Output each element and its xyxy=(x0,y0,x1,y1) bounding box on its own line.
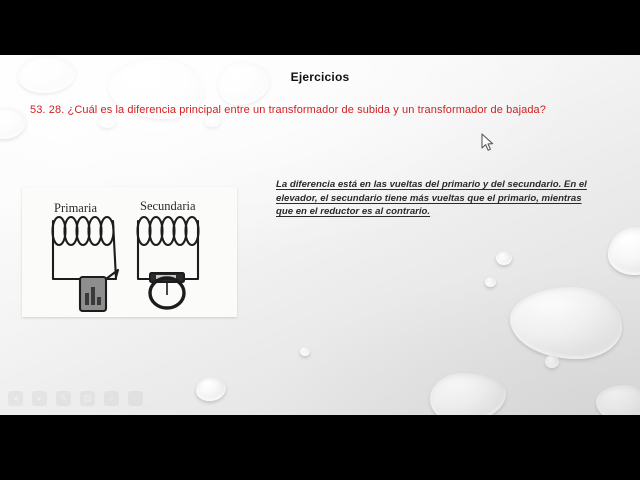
secondary-coil xyxy=(138,217,199,245)
slideshow-screen: Ejercicios 53. 28. ¿Cuál es la diferenci… xyxy=(0,0,640,480)
mouse-cursor xyxy=(481,133,494,152)
droplet-small-d xyxy=(485,277,496,287)
primary-coil xyxy=(53,217,114,245)
slideshow-control-toolbar[interactable]: ◂▸✎▤⌕⋯ xyxy=(8,391,143,406)
battery-icon xyxy=(80,277,106,311)
pen-tool-button[interactable]: ✎ xyxy=(56,391,71,406)
droplet-bottom-mid xyxy=(196,377,226,401)
transformer-diagram-image[interactable]: Primaria Secundaria xyxy=(22,187,237,317)
droplet-left-edge xyxy=(0,107,26,139)
droplet-right-upper xyxy=(608,227,640,275)
letterbox-top xyxy=(0,0,640,55)
next-slide-button[interactable]: ▸ xyxy=(32,391,47,406)
slide-menu-button[interactable]: ▤ xyxy=(80,391,95,406)
transformer-circuit-drawing xyxy=(22,187,237,317)
letterbox-bottom xyxy=(0,415,640,480)
droplet-bottom-far xyxy=(596,385,640,415)
droplet-small-e xyxy=(545,355,559,368)
light-bulb-icon xyxy=(150,273,184,308)
droplet-small-c xyxy=(496,251,512,265)
droplet-tiny-f xyxy=(300,347,310,356)
slide-canvas[interactable]: Ejercicios 53. 28. ¿Cuál es la diferenci… xyxy=(0,55,640,415)
droplet-bottom-left-lg xyxy=(430,373,506,415)
droplet-mid-right xyxy=(510,287,622,359)
more-options-button[interactable]: ⋯ xyxy=(128,391,143,406)
answer-text: La diferencia está en las vueltas del pr… xyxy=(276,178,594,219)
slide-title: Ejercicios xyxy=(0,70,640,84)
zoom-tool-button[interactable]: ⌕ xyxy=(104,391,119,406)
previous-slide-button[interactable]: ◂ xyxy=(8,391,23,406)
question-text: 53. 28. ¿Cuál es la diferencia principal… xyxy=(30,104,610,116)
